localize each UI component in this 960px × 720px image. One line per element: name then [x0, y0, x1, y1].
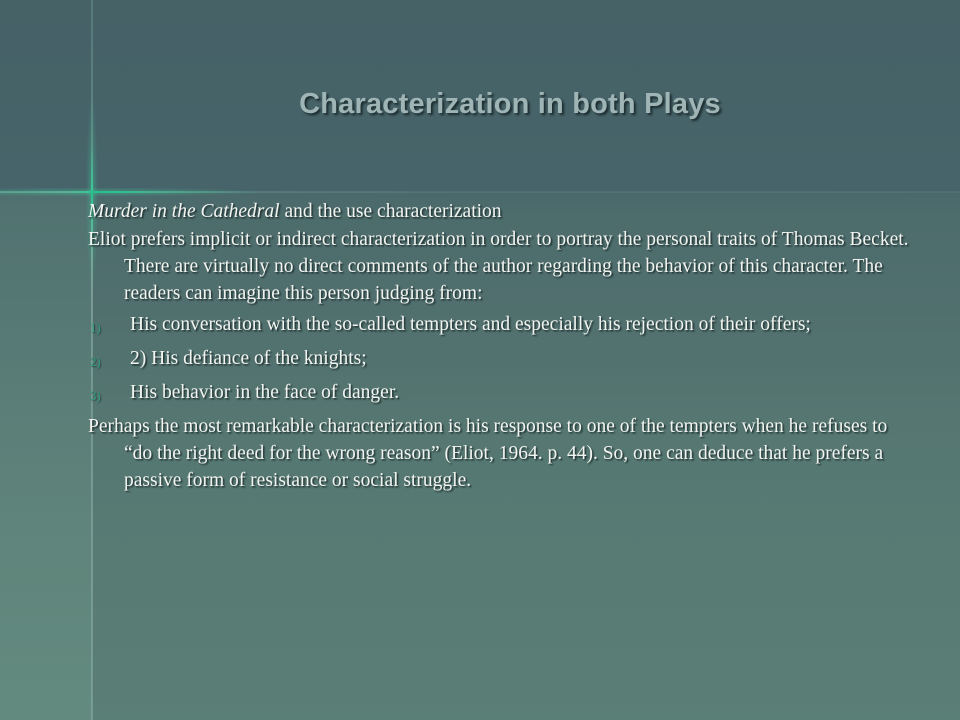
subheading-italic-title: Murder in the Cathedral	[88, 201, 280, 222]
slide-left-wash	[0, 192, 92, 720]
subheading-paragraph: Murder in the Cathedral and the use char…	[88, 198, 916, 225]
list-item-text: 2) His defiance of the knights;	[130, 348, 367, 369]
slide-canvas: Characterization in both Plays Murder in…	[0, 0, 960, 720]
numbered-list: 1) His conversation with the so-called t…	[88, 311, 916, 406]
list-marker: 2)	[90, 348, 101, 375]
list-item: 3) His behavior in the face of danger.	[88, 379, 916, 406]
list-marker: 1)	[90, 314, 101, 341]
slide-title: Characterization in both Plays	[92, 88, 928, 121]
horizontal-accent-line	[0, 191, 960, 193]
list-item-text: His conversation with the so-called temp…	[130, 314, 811, 335]
list-item: 2) 2) His defiance of the knights;	[88, 345, 916, 372]
list-marker: 3)	[90, 382, 101, 409]
list-item: 1) His conversation with the so-called t…	[88, 311, 916, 338]
intro-paragraph: Eliot prefers implicit or indirect chara…	[88, 226, 916, 307]
closing-paragraph: Perhaps the most remarkable characteriza…	[88, 413, 916, 494]
subheading-rest: and the use characterization	[280, 201, 502, 222]
slide-body: Murder in the Cathedral and the use char…	[88, 198, 916, 495]
list-item-text: His behavior in the face of danger.	[130, 382, 399, 403]
